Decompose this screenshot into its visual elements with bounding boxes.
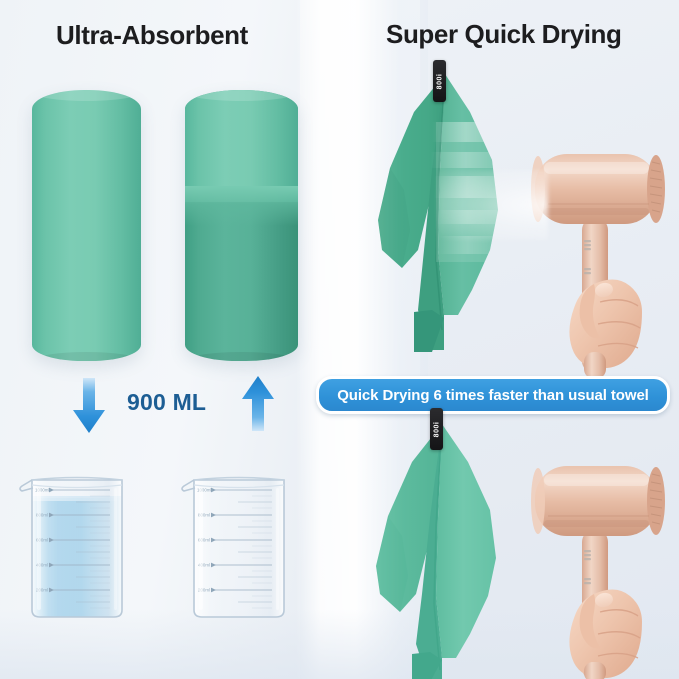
towel-bottom-cap: [35, 352, 137, 361]
beaker-empty: 1000ml 800ml 600ml 400ml 200ml: [180, 458, 298, 620]
wet-rolled-towel: [185, 90, 298, 361]
towel-moisture-gradient: [185, 186, 298, 226]
towel-hang-tag: 800i: [430, 408, 443, 450]
towel-top-cap: [35, 90, 137, 101]
quick-drying-banner-text: Quick Drying 6 times faster than usual t…: [337, 387, 649, 404]
towel-bottom-cap: [188, 352, 294, 361]
absorbed-volume-label: 900 ML: [127, 389, 206, 416]
dry-rolled-towel: [32, 90, 141, 361]
hair-dryer-top: [508, 134, 679, 379]
quick-drying-banner: Quick Drying 6 times faster than usual t…: [316, 376, 670, 414]
hair-dryer-bottom: [508, 452, 679, 679]
left-panel-title: Ultra-Absorbent: [56, 20, 248, 51]
arrow-down-icon: [72, 378, 106, 434]
arrow-up-icon: [241, 375, 275, 431]
towel-hang-tag: 800i: [433, 60, 446, 102]
beaker-filled: 1000ml 800ml 600ml 400ml 200ml: [18, 458, 136, 620]
infographic-canvas: Ultra-Absorbent Super Quick Drying 900 M…: [0, 0, 679, 679]
towel-hang-tag-text: 800i: [436, 73, 443, 89]
towel-hang-tag-text: 800i: [433, 421, 440, 437]
right-panel-title: Super Quick Drying: [386, 19, 622, 50]
